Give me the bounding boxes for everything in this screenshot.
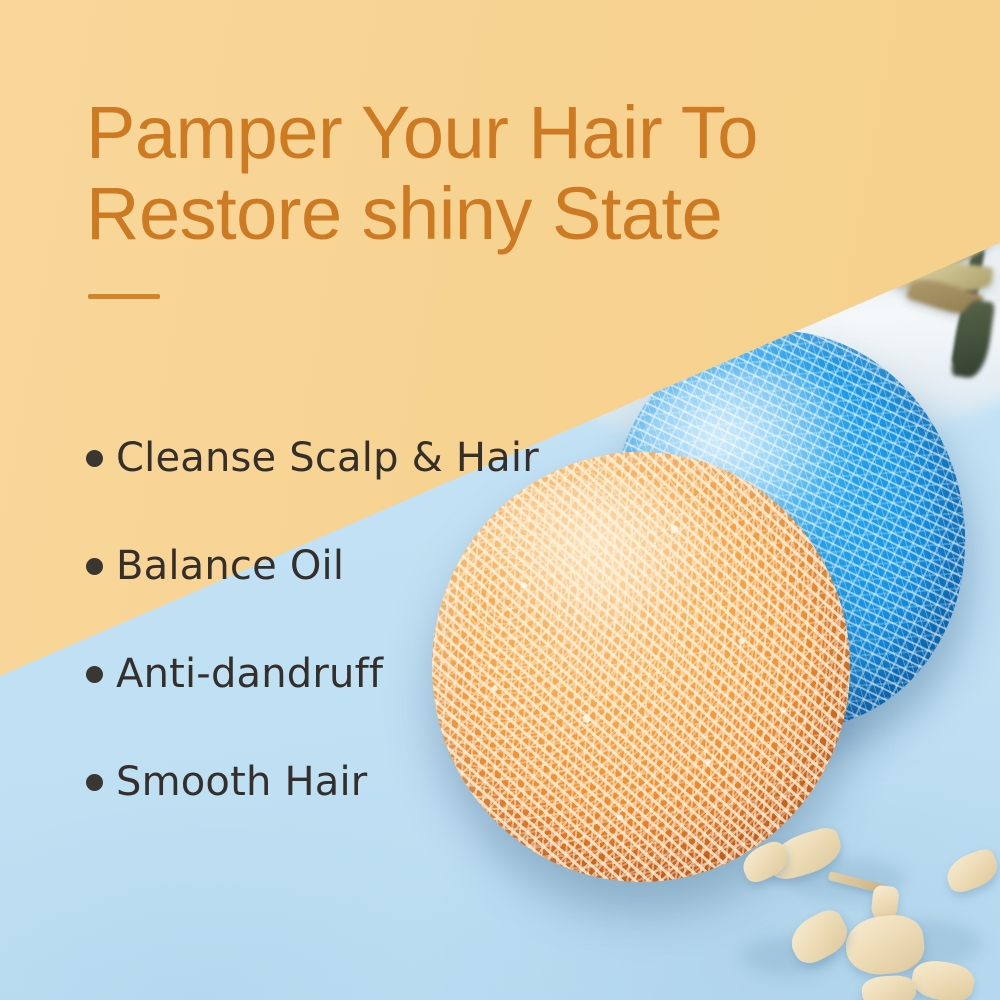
product-banner: Pamper Your Hair To Restore shiny State … xyxy=(0,0,1000,1000)
list-item: Balance Oil xyxy=(86,512,646,620)
list-item: Anti-dandruff xyxy=(86,620,646,728)
benefits-list: Cleanse Scalp & Hair Balance Oil Anti-da… xyxy=(86,404,646,836)
page-title: Pamper Your Hair To Restore shiny State xyxy=(86,92,926,255)
list-item: Cleanse Scalp & Hair xyxy=(86,404,646,512)
title-divider xyxy=(88,294,160,299)
bullet-dot-icon xyxy=(86,666,103,683)
benefit-label: Anti-dandruff xyxy=(116,654,383,694)
benefit-label: Cleanse Scalp & Hair xyxy=(116,438,539,478)
bullet-dot-icon xyxy=(86,774,103,791)
bullet-dot-icon xyxy=(86,450,103,467)
benefit-label: Balance Oil xyxy=(116,546,344,586)
benefit-label: Smooth Hair xyxy=(116,762,367,802)
list-item: Smooth Hair xyxy=(86,728,646,836)
bullet-dot-icon xyxy=(86,558,103,575)
